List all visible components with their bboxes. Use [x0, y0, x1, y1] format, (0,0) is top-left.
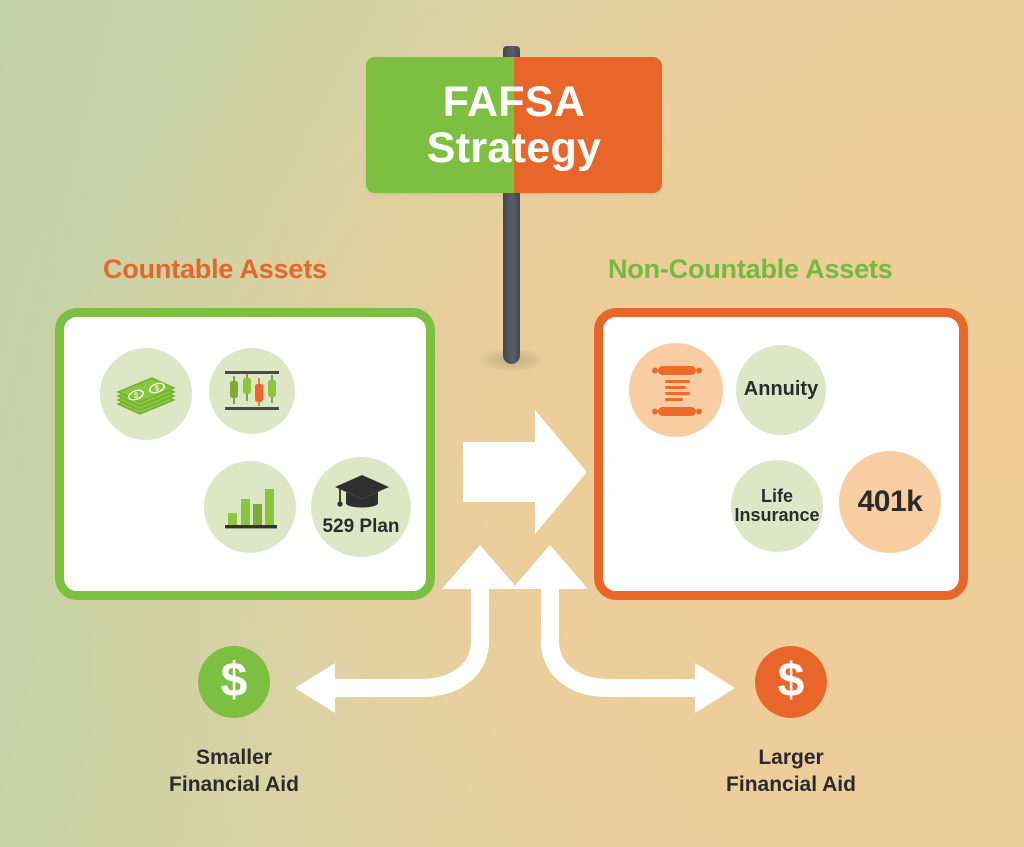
curved-arrows-group [275, 545, 755, 735]
annuity-label: Annuity [744, 379, 818, 401]
larger-aid-label-line1: Larger [691, 745, 891, 772]
plan-529-bubble: 529 Plan [311, 457, 411, 557]
retirement-401k-bubble: 401k [839, 451, 941, 553]
scroll-certificate-icon [650, 362, 704, 420]
annuity-bubble: Annuity [736, 345, 826, 435]
right-arrow-icon [461, 404, 589, 540]
infographic-canvas: FAFSA Strategy Countable Assets Non-Coun… [0, 0, 1024, 847]
scroll-certificate-bubble [629, 343, 723, 437]
cash-stack-bubble: $ $ [100, 348, 192, 440]
plan-529-label: 529 Plan [322, 517, 399, 538]
svg-text:$: $ [134, 393, 138, 400]
curved-left-arrow-icon [295, 545, 518, 713]
smaller-aid-dollar-symbol: $ [221, 657, 248, 705]
bar-chart-icon [224, 483, 278, 531]
life-insurance-bubble: Life Insurance [731, 460, 823, 552]
life-insurance-label: Life Insurance [734, 487, 819, 526]
life-insurance-line1: Life [761, 486, 793, 506]
cash-stack-icon: $ $ [114, 370, 178, 418]
smaller-aid-label-line1: Smaller [134, 745, 334, 772]
svg-text:$: $ [155, 386, 159, 393]
curved-right-arrow-icon [512, 545, 735, 713]
smaller-aid-coin: $ [198, 646, 270, 718]
smaller-aid-label: Smaller Financial Aid [134, 745, 334, 799]
fafsa-strategy-sign [366, 57, 662, 193]
smaller-aid-label-line2: Financial Aid [134, 772, 334, 799]
sign-right-half [514, 57, 662, 193]
larger-aid-dollar-symbol: $ [778, 657, 805, 705]
sign-left-half [366, 57, 514, 193]
candlestick-chart-bubble [209, 348, 295, 434]
non-countable-assets-heading: Non-Countable Assets [608, 254, 893, 285]
larger-aid-label-line2: Financial Aid [691, 772, 891, 799]
life-insurance-line2: Insurance [734, 505, 819, 525]
countable-assets-heading: Countable Assets [103, 254, 327, 285]
graduation-cap-icon [333, 473, 391, 517]
bar-chart-bubble [204, 461, 296, 553]
larger-aid-coin: $ [755, 646, 827, 718]
retirement-401k-label: 401k [858, 486, 923, 518]
larger-aid-label: Larger Financial Aid [691, 745, 891, 799]
candlestick-chart-icon [223, 365, 281, 417]
